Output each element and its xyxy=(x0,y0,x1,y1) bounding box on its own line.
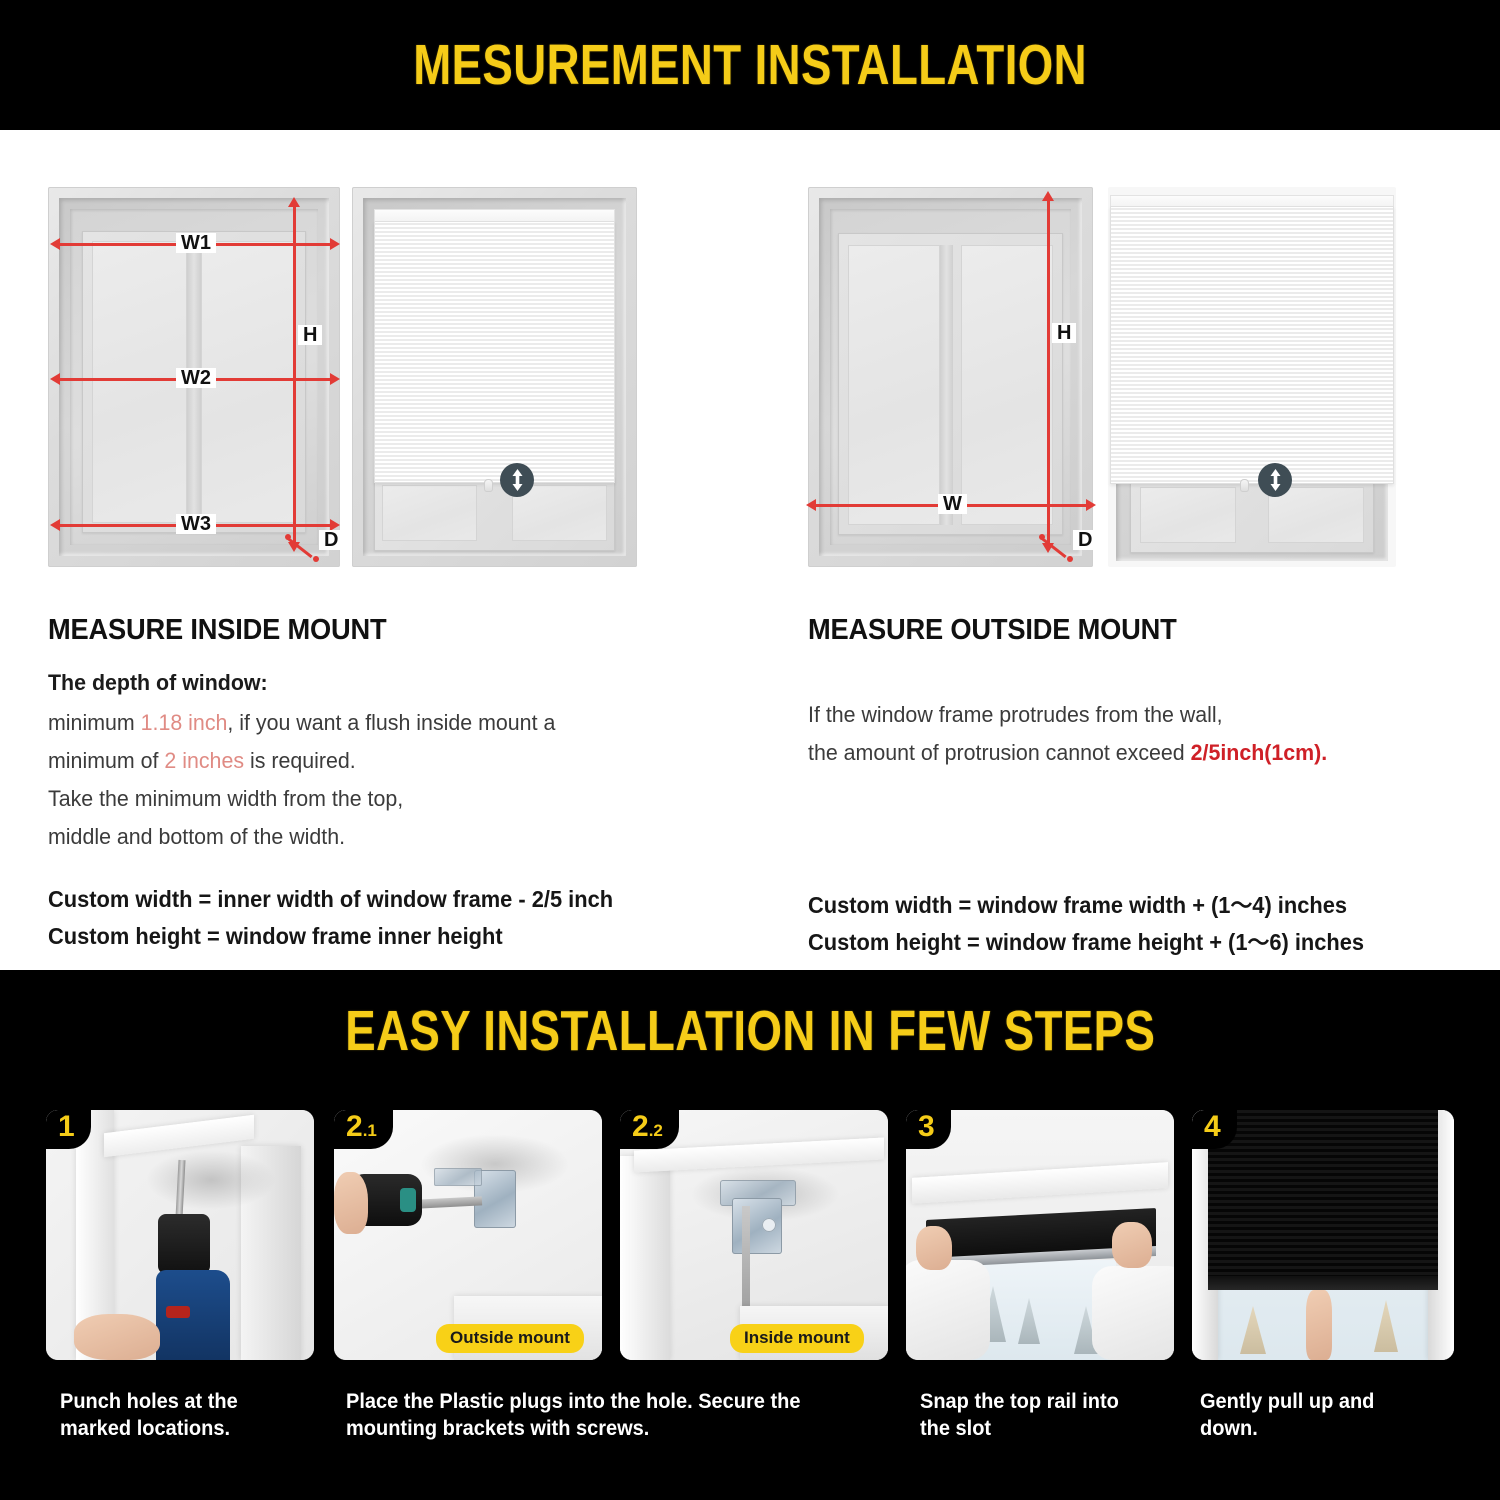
outside-mount-title: MEASURE OUTSIDE MOUNT xyxy=(808,614,1177,647)
step-photo-3[interactable]: 3 xyxy=(906,1110,1174,1360)
measure-dot-d xyxy=(285,534,291,540)
measure-label-h: H xyxy=(298,325,322,345)
inside-mount-line4: Take the minimum width from the top, xyxy=(48,786,403,812)
step-caption-1: Punch holes at the marked locations. xyxy=(60,1388,302,1442)
inside-mount-line5: middle and bottom of the width. xyxy=(48,824,345,850)
outside-mount-line2: the amount of protrusion cannot exceed 2… xyxy=(808,740,1327,766)
measure-arrow-h-outside xyxy=(1040,191,1056,553)
outside-mount-line1: If the window frame protrudes from the w… xyxy=(808,702,1223,728)
up-down-arrow-badge-outside xyxy=(1258,463,1292,497)
measure-label-w: W xyxy=(938,494,967,514)
top-banner-title: MESUREMENT INSTALLATION xyxy=(413,32,1087,98)
top-banner: MESUREMENT INSTALLATION xyxy=(0,0,1500,130)
pull-shade-photo xyxy=(1192,1110,1454,1360)
outside-shade-pull-knob xyxy=(1240,479,1249,492)
inside-line3-highlight: 2 inches xyxy=(164,748,244,773)
measure-label-h-outside: H xyxy=(1052,323,1076,343)
outside-cellular-shade-fabric xyxy=(1110,206,1394,484)
inside-line3-post: is required. xyxy=(244,748,356,773)
step-number-badge-2-1: 2 .1 xyxy=(334,1110,393,1149)
inside-mount-shade-diagram xyxy=(352,187,637,567)
outside-shade-pane-right xyxy=(1268,487,1364,543)
measurement-panel: W1 W2 W3 H D xyxy=(0,130,1500,970)
drill-photo xyxy=(46,1110,314,1360)
step-photo-1[interactable]: 1 xyxy=(46,1110,314,1360)
step-caption-2: Place the Plastic plugs into the hole. S… xyxy=(346,1388,867,1442)
step-photo-2-2[interactable]: 2 .2 Inside mount xyxy=(620,1110,888,1360)
inside-mount-column: W1 W2 W3 H D xyxy=(30,130,740,970)
step-number-minor: .1 xyxy=(363,1122,377,1139)
measure-label-w3: W3 xyxy=(176,514,216,534)
step-number-major: 2 xyxy=(346,1112,363,1142)
inside-mount-title: MEASURE INSIDE MOUNT xyxy=(48,614,387,647)
measure-dot-d2 xyxy=(313,556,319,562)
step-photo-2-1[interactable]: 2 .1 Outside mount xyxy=(334,1110,602,1360)
measure-arrow-h xyxy=(286,197,302,552)
outside-mount-formula-width: Custom width = window frame width + (1～4… xyxy=(808,886,1347,920)
step-caption-4: Gently pull up and down. xyxy=(1200,1388,1433,1442)
up-down-arrow-badge xyxy=(500,463,534,497)
installation-steps: 1 2 .1 Outside mount xyxy=(0,1092,1500,1500)
measure-label-w2: W2 xyxy=(176,368,216,388)
infographic-page: MESUREMENT INSTALLATION xyxy=(0,0,1500,1500)
steps-banner: EASY INSTALLATION IN FEW STEPS xyxy=(0,970,1500,1092)
measure-dot-d-outside xyxy=(1039,534,1045,540)
inside-mount-line3: minimum of 2 inches is required. xyxy=(48,748,356,774)
outside-line2-pre: the amount of protrusion cannot exceed xyxy=(808,740,1191,765)
outside-mount-shade-diagram xyxy=(1108,187,1396,567)
measure-label-d-outside: D xyxy=(1073,530,1097,550)
outside-mount-diagrams: W H D xyxy=(790,175,1480,570)
step-caption-3: Snap the top rail into the slot xyxy=(920,1388,1153,1442)
step-number-major: 2 xyxy=(632,1112,649,1142)
inside-mount-intro: The depth of window: xyxy=(48,670,268,696)
inside-mount-formula-width: Custom width = inner width of window fra… xyxy=(48,886,613,913)
measure-label-w1: W1 xyxy=(176,233,216,253)
inside-mount-diagrams: W1 W2 W3 H D xyxy=(30,175,740,570)
outside-shade-pane-left xyxy=(1140,487,1236,543)
inside-line2-pre: minimum xyxy=(48,710,141,735)
outside-line2-highlight: 2/5inch(1cm). xyxy=(1191,740,1328,765)
outside-window-pane-left xyxy=(848,245,940,525)
shade-window-pane-left xyxy=(382,485,477,541)
inside-line3-pre: minimum of xyxy=(48,748,164,773)
step-photo-4[interactable]: 4 xyxy=(1192,1110,1454,1360)
outside-window-mullion xyxy=(940,245,953,525)
step-number-minor: .2 xyxy=(649,1122,663,1139)
step-number-major: 1 xyxy=(58,1112,75,1142)
cellular-shade-fabric xyxy=(374,221,615,483)
outside-mount-pill: Outside mount xyxy=(436,1324,584,1353)
measure-label-d: D xyxy=(319,530,343,550)
step-number-major: 4 xyxy=(1204,1112,1221,1142)
steps-banner-title: EASY INSTALLATION IN FEW STEPS xyxy=(345,998,1155,1064)
inside-line2-highlight: 1.18 inch xyxy=(141,710,228,735)
inside-mount-formula-height: Custom height = window frame inner heigh… xyxy=(48,923,503,950)
measure-dot-d2-outside xyxy=(1067,556,1073,562)
inside-mount-pill: Inside mount xyxy=(730,1324,864,1353)
snap-rail-photo xyxy=(906,1110,1174,1360)
outside-mount-column: W H D xyxy=(790,130,1480,970)
inside-mount-line2: minimum 1.18 inch, if you want a flush i… xyxy=(48,710,555,736)
shade-pull-knob xyxy=(484,479,493,492)
step-number-major: 3 xyxy=(918,1112,935,1142)
step-number-badge-2-2: 2 .2 xyxy=(620,1110,679,1149)
inside-line2-post: , if you want a flush inside mount a xyxy=(227,710,555,735)
outside-mount-formula-height: Custom height = window frame height + (1… xyxy=(808,923,1364,957)
